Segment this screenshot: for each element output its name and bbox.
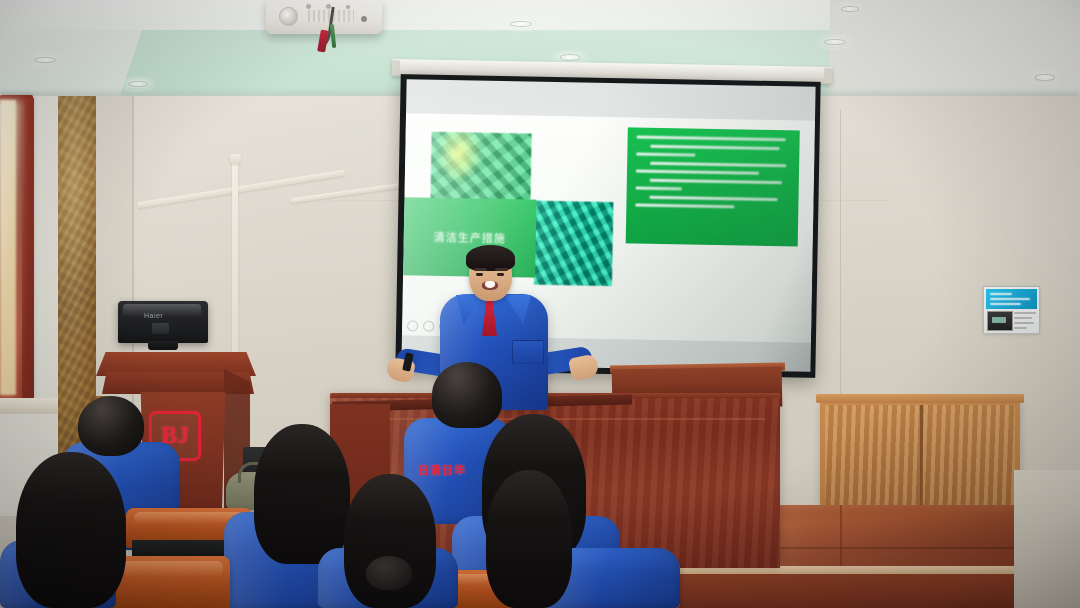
cabinet-door-split [920, 405, 923, 507]
window-daylight-glow [0, 100, 22, 400]
wall-cabinet[interactable] [820, 400, 1020, 512]
monitor-badge [152, 323, 169, 334]
wall-panel-left [96, 96, 132, 396]
downlight-icon [122, 78, 154, 90]
slide-photo-micrograph-bottom [534, 201, 614, 286]
uniform-back-text: 日清日毕 [418, 462, 466, 478]
pointer-icon[interactable] [423, 321, 434, 332]
cabinet-top-lip [816, 394, 1024, 403]
wall-conduit [230, 154, 241, 164]
audience-hair-bun [432, 362, 502, 428]
presenter-hair [466, 245, 515, 271]
hair-tie-icon [366, 556, 412, 590]
podium-monitor[interactable]: Haier [118, 301, 208, 343]
wall-seam [840, 110, 841, 400]
audience-hair-long [16, 452, 126, 608]
audience-hair [78, 396, 144, 456]
slide-bullet-box [626, 127, 800, 246]
window-sill [0, 398, 58, 414]
window-mullion [22, 98, 34, 398]
slide-title-text: 清洁生产措施 [434, 229, 506, 246]
downlight-icon [818, 36, 852, 48]
downlight-icon [1030, 72, 1060, 83]
projector-lens-icon [279, 7, 298, 26]
audience-hair-long [486, 470, 572, 608]
chair[interactable] [110, 556, 230, 608]
floor-right [1014, 470, 1080, 608]
conference-room-photo: 清洁生产措施 [0, 0, 1080, 608]
monitor-stand [148, 341, 178, 350]
panel-label-lines [1014, 312, 1036, 332]
monitor-brand-label: Haier [144, 313, 163, 320]
thermostat-display[interactable] [987, 311, 1013, 331]
downlight-icon [504, 18, 538, 30]
audience-hair-long [254, 424, 350, 564]
downlight-icon [28, 54, 62, 66]
panel-sign [986, 289, 1037, 309]
downlight-icon [836, 4, 864, 14]
presenter-mouth [482, 281, 498, 290]
prev-slide-icon[interactable] [407, 320, 418, 331]
presenter-chest-pocket [512, 340, 544, 364]
wall-control-panel[interactable] [983, 286, 1040, 334]
